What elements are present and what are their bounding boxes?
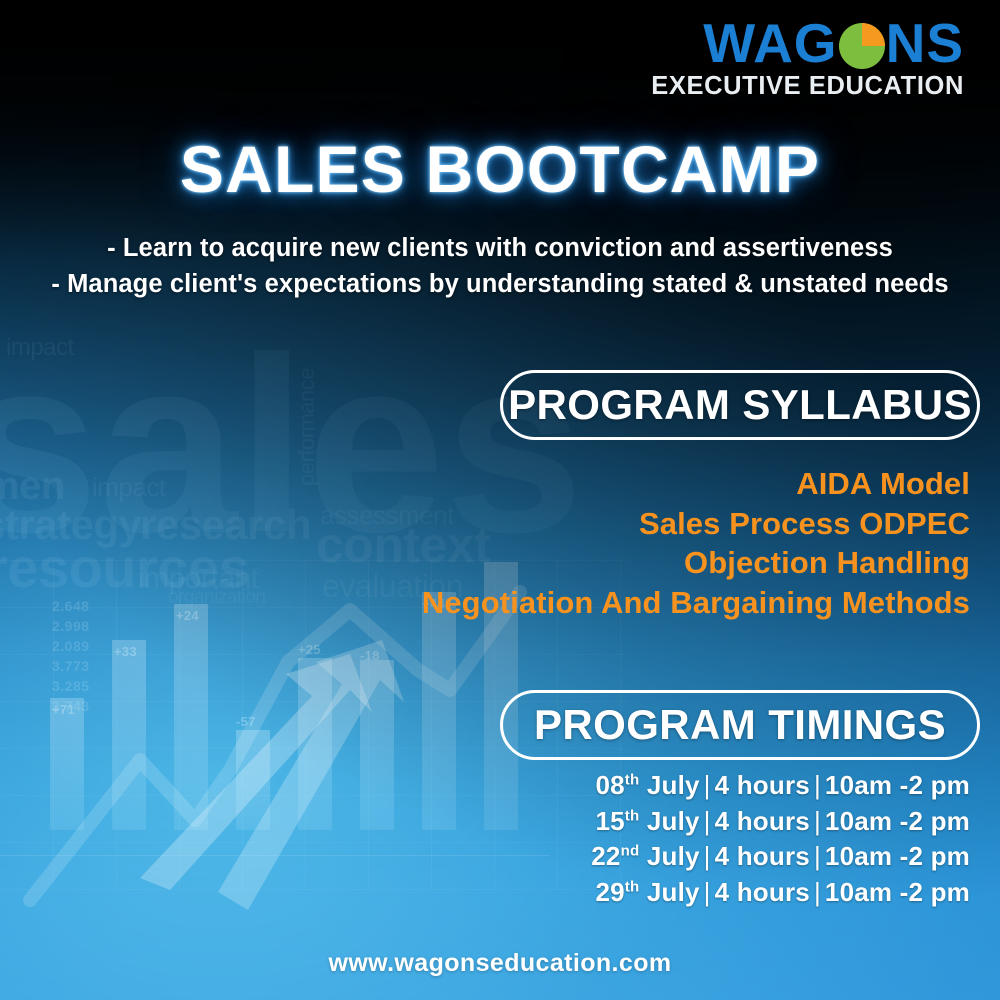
timing-month: July — [647, 806, 700, 836]
subtitle-line: - Manage client's expectations by unders… — [0, 266, 1000, 302]
timing-duration: 4 hours — [715, 841, 810, 871]
timing-time: 10am -2 pm — [825, 806, 970, 836]
logo-word-right: NS — [886, 16, 964, 71]
timing-ordinal: th — [625, 807, 640, 824]
program-syllabus-header[interactable]: PROGRAM SYLLABUS — [500, 370, 980, 440]
logo-subtitle: EXECUTIVE EDUCATION — [651, 74, 964, 100]
timings-list: 08th July|4 hours|10am -2 pm15th July|4 … — [270, 768, 970, 910]
list-item: AIDA Model — [270, 464, 970, 504]
timing-separator: | — [810, 839, 825, 875]
program-timings-header[interactable]: PROGRAM TIMINGS — [500, 690, 980, 760]
timing-time: 10am -2 pm — [825, 877, 970, 907]
timing-row: 15th July|4 hours|10am -2 pm — [270, 804, 970, 840]
timing-day: 29th — [595, 877, 639, 907]
timing-month: July — [647, 770, 700, 800]
timing-separator: | — [810, 768, 825, 804]
timing-ordinal: th — [625, 771, 640, 788]
list-item: Negotiation And Bargaining Methods — [270, 583, 970, 623]
watermark-word: impact — [6, 336, 74, 360]
promotional-poster: sales impact impact men strategy researc… — [0, 0, 1000, 1000]
timing-duration: 4 hours — [715, 770, 810, 800]
list-item: Sales Process ODPEC — [270, 504, 970, 544]
timing-separator: | — [700, 768, 715, 804]
website-url[interactable]: www.wagonseducation.com — [0, 949, 1000, 978]
timing-separator: | — [700, 839, 715, 875]
pie-chart-icon — [839, 23, 885, 69]
timing-duration: 4 hours — [715, 877, 810, 907]
timing-row: 29th July|4 hours|10am -2 pm — [270, 875, 970, 911]
subtitle-block: - Learn to acquire new clients with conv… — [0, 230, 1000, 302]
timing-time: 10am -2 pm — [825, 841, 970, 871]
timing-separator: | — [700, 875, 715, 911]
timing-separator: | — [810, 804, 825, 840]
logo-word-left: WAG — [703, 16, 837, 71]
timing-month: July — [647, 877, 700, 907]
timing-day: 08th — [595, 770, 639, 800]
timing-separator: | — [700, 804, 715, 840]
brand-logo[interactable]: WAG NS EXECUTIVE EDUCATION — [651, 16, 964, 100]
page-title: SALES BOOTCAMP — [0, 136, 1000, 202]
timing-month: July — [647, 841, 700, 871]
timing-row: 08th July|4 hours|10am -2 pm — [270, 768, 970, 804]
syllabus-list: AIDA Model Sales Process ODPEC Objection… — [270, 464, 970, 623]
timing-row: 22nd July|4 hours|10am -2 pm — [270, 839, 970, 875]
subtitle-line: - Learn to acquire new clients with conv… — [0, 230, 1000, 266]
timing-separator: | — [810, 875, 825, 911]
timing-day: 15th — [595, 806, 639, 836]
timing-day: 22nd — [591, 841, 639, 871]
timing-time: 10am -2 pm — [825, 770, 970, 800]
timing-ordinal: nd — [621, 843, 640, 860]
timing-ordinal: th — [625, 878, 640, 895]
timing-duration: 4 hours — [715, 806, 810, 836]
logo-wordmark: WAG NS — [651, 16, 964, 71]
list-item: Objection Handling — [270, 543, 970, 583]
